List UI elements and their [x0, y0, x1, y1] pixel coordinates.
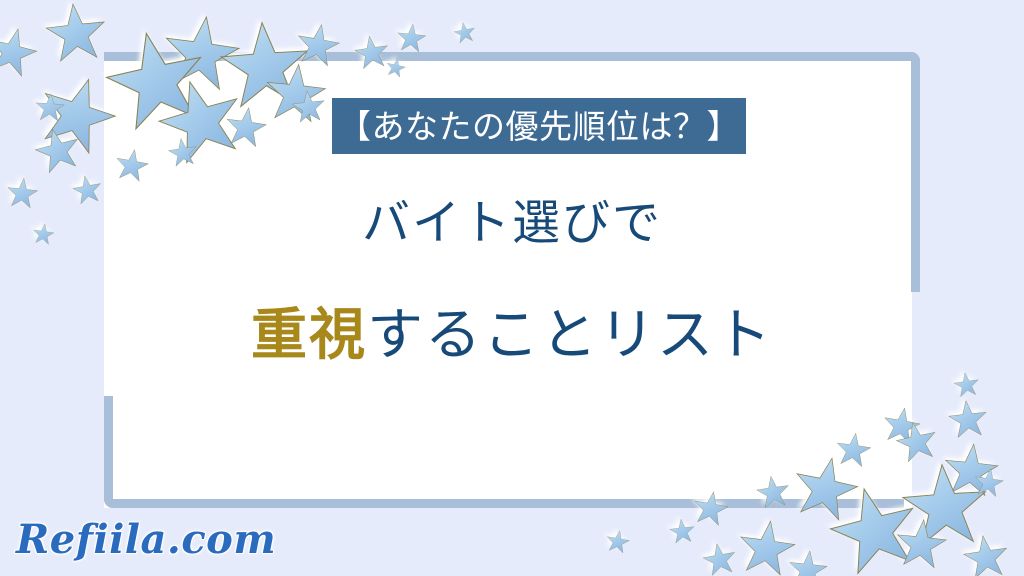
frame-border-bottom: [104, 499, 904, 508]
headline-line-2: 重視することリスト: [0, 303, 1024, 367]
headline-line-2-rest: することリスト: [367, 303, 773, 366]
headline-block: バイト選びで 重視することリスト: [0, 196, 1024, 368]
headline-line-1: バイト選びで: [0, 196, 1024, 251]
headline-badge: 【あなたの優先順位は？】: [332, 98, 746, 154]
headline-keyword: 重視: [251, 303, 367, 366]
site-logo: Refiila.com: [16, 516, 276, 563]
frame-border-left: [104, 396, 113, 508]
slide-canvas: 【あなたの優先順位は？】 バイト選びで 重視することリスト Refiila.co…: [0, 0, 1024, 576]
frame-border-top: [104, 52, 920, 61]
badge-label: 【あなたの優先順位は？】: [338, 110, 740, 143]
